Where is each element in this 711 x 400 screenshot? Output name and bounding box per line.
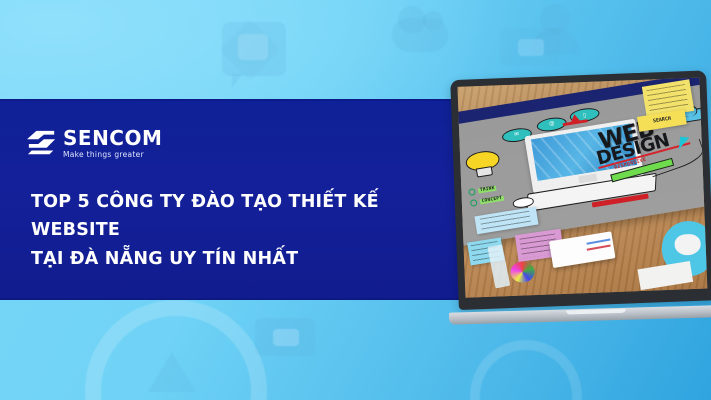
checklist-label: CONCEPT [480, 196, 505, 205]
lightbulb-icon [460, 148, 505, 179]
banner-bottom-edge [0, 298, 472, 300]
sencom-logo[interactable]: SENCOM Make things greater [26, 128, 162, 159]
sencom-s-logo-icon [26, 128, 58, 158]
banner-top-edge [0, 99, 472, 101]
sticky-note-blue [475, 207, 539, 234]
laptop-lid: THINK CONCEPT ✉ @ ▯ [450, 70, 711, 310]
headline-line-1: TOP 5 CÔNG TY ĐÀO TẠO THIẾT KẾ WEBSITE [31, 192, 379, 240]
radio-icon [468, 188, 476, 196]
card-watermark [255, 318, 315, 356]
banner-stage: SENCOM Make things greater TOP 5 CÔNG TY… [0, 0, 711, 400]
checklist-item-think: THINK [468, 185, 498, 197]
checklist-item-concept: CONCEPT [470, 195, 505, 207]
laptop-base-notch [566, 309, 626, 315]
radio-icon [470, 199, 478, 207]
upload-arrow-base [563, 119, 588, 126]
laptop-screen: THINK CONCEPT ✉ @ ▯ [457, 78, 707, 298]
checklist-label: THINK [478, 186, 497, 194]
logo-tagline: Make things greater [63, 151, 162, 159]
card-watermark [500, 28, 560, 66]
page-title: TOP 5 CÔNG TY ĐÀO TẠO THIẾT KẾ WEBSITE T… [31, 188, 451, 273]
search-note-label: SEARCH [653, 116, 672, 125]
headline-line-2: TẠI ĐÀ NẴNG UY TÍN NHẤT [31, 245, 451, 273]
cloud-watermark [392, 18, 448, 52]
triangle-watermark [148, 352, 196, 392]
laptop-illustration: THINK CONCEPT ✉ @ ▯ [447, 72, 711, 324]
logo-wordmark: SENCOM [63, 128, 162, 148]
